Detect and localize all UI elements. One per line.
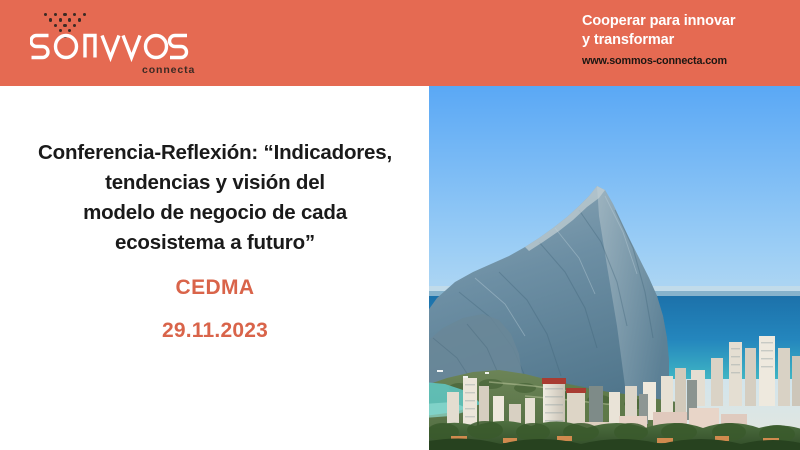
title-line-3: modelo de negocio de cada [14,198,416,228]
presentation-slide: connecta Cooperar para innovar y transfo… [0,0,800,450]
page-title: Conferencia-Reflexión: “Indicadores, ten… [14,138,416,258]
hero-photo [429,86,800,450]
title-line-4: ecosistema a futuro” [14,228,416,258]
header-tagline-block: Cooperar para innovar y transformar www.… [582,12,782,67]
calpe-landscape-illustration [429,86,800,450]
header-bar: connecta Cooperar para innovar y transfo… [0,0,800,86]
event-date: 29.11.2023 [14,319,416,343]
brand-subtitle: connecta [142,64,195,76]
brand-logo: connecta [30,8,230,80]
slogan-line-2: y transformar [582,31,782,50]
title-line-2: tendencias y visión del [14,168,416,198]
organization-name: CEDMA [14,276,416,300]
website-url[interactable]: www.sommos-connecta.com [582,55,782,67]
title-line-1: Conferencia-Reflexión: “Indicadores, [14,138,416,168]
slogan-line-1: Cooperar para innovar [582,12,782,31]
sommos-wordmark-icon [30,32,190,62]
content-pane: Conferencia-Reflexión: “Indicadores, ten… [0,86,429,450]
